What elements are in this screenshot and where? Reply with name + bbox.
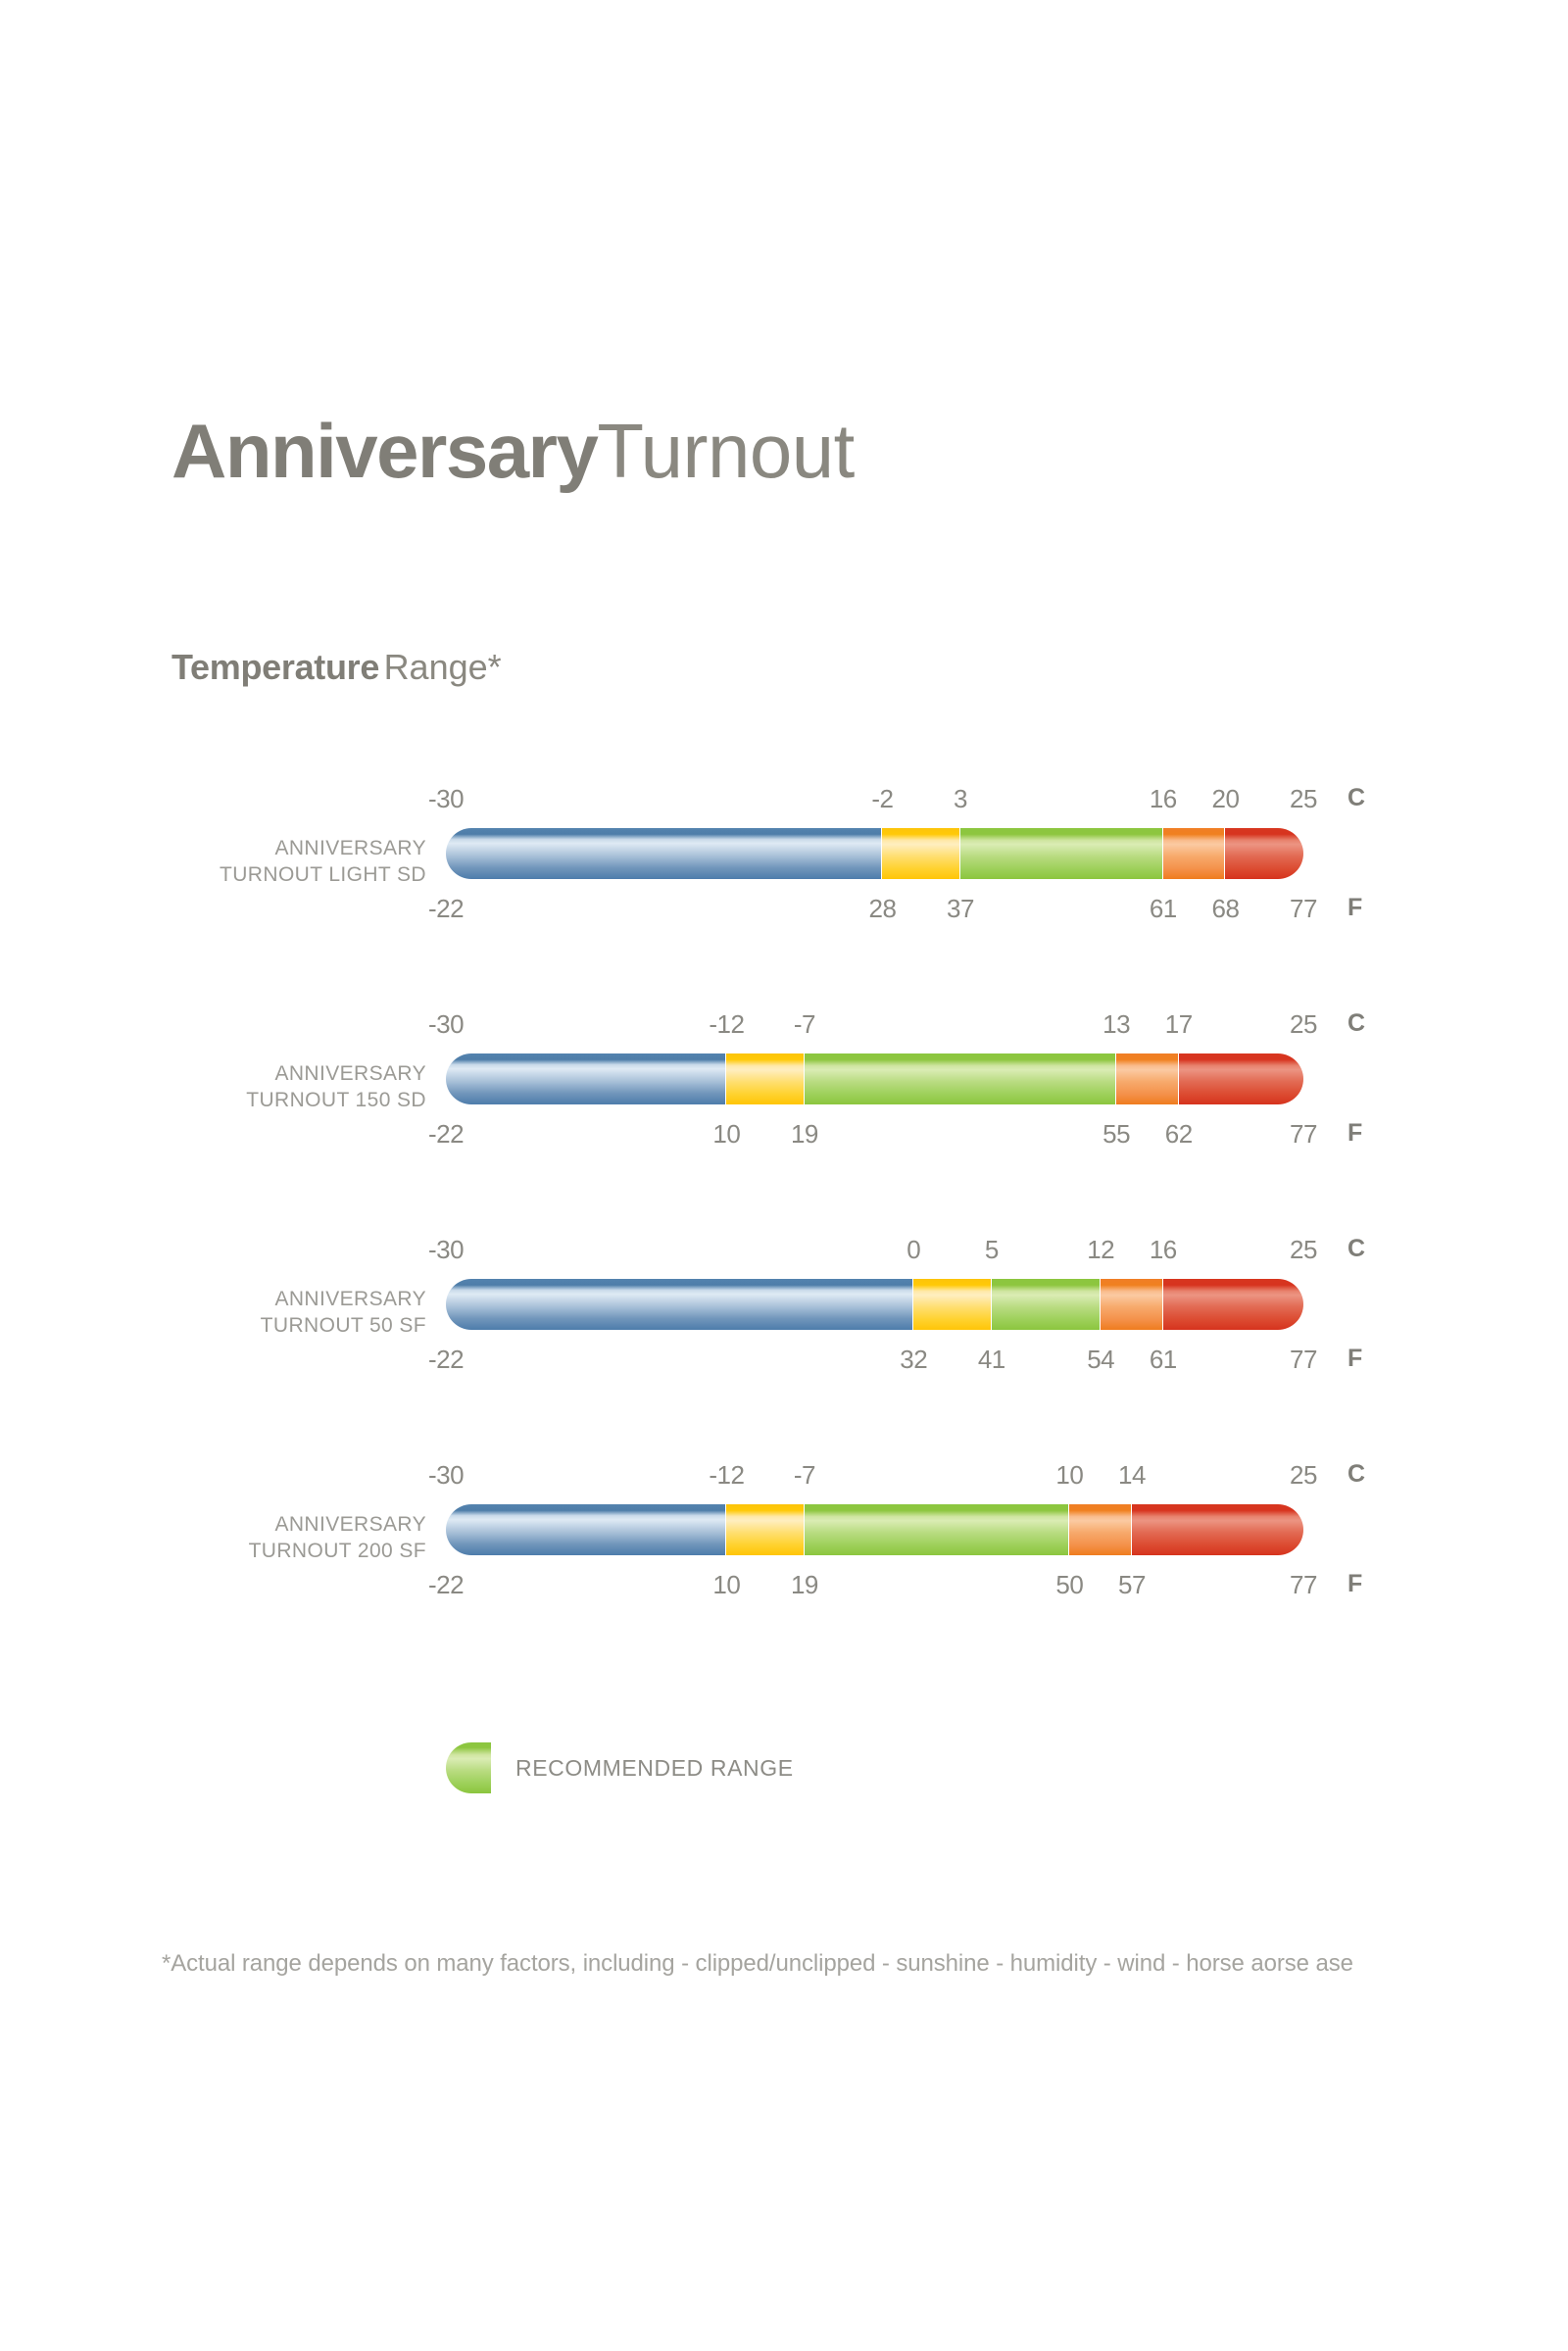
- bar-segment-blue: [446, 1279, 913, 1330]
- unit-fahrenheit: F: [1347, 1570, 1362, 1598]
- fahrenheit-tick-row: -222837616877: [446, 894, 1303, 923]
- celsius-tick: 25: [1290, 1235, 1317, 1265]
- bar-segment-green: [992, 1279, 1101, 1330]
- row-label: ANNIVERSARYTURNOUT LIGHT SD: [103, 835, 426, 888]
- fahrenheit-tick-row: -221019505777: [446, 1570, 1303, 1599]
- fahrenheit-tick: -22: [428, 1119, 464, 1150]
- celsius-tick-row: -30-12-7101425: [446, 1460, 1303, 1490]
- bar-segment-yellow: [726, 1053, 805, 1104]
- celsius-tick-row: -30-12-7131725: [446, 1009, 1303, 1039]
- bar-segment-yellow: [726, 1504, 805, 1555]
- bar-segment-orange: [1101, 1279, 1163, 1330]
- legend: RECOMMENDED RANGE: [446, 1742, 794, 1793]
- chart-row: ANNIVERSARYTURNOUT LIGHT SD-30-23162025-…: [0, 774, 1568, 1000]
- unit-fahrenheit: F: [1347, 894, 1362, 922]
- fahrenheit-tick: 68: [1211, 894, 1239, 924]
- fahrenheit-tick: 61: [1150, 1345, 1177, 1375]
- fahrenheit-tick: -22: [428, 1570, 464, 1600]
- celsius-tick: -30: [428, 1009, 464, 1040]
- celsius-tick: 16: [1150, 784, 1177, 814]
- section-subtitle: Temperature Range*: [171, 647, 502, 688]
- bar-area: -3005121625-223241546177: [446, 1225, 1303, 1450]
- fahrenheit-tick: -22: [428, 1345, 464, 1375]
- row-label-line2: TURNOUT LIGHT SD: [103, 861, 426, 888]
- celsius-tick: 10: [1055, 1460, 1083, 1491]
- bar-segment-yellow: [882, 828, 960, 879]
- fahrenheit-tick: 61: [1150, 894, 1177, 924]
- fahrenheit-tick: -22: [428, 894, 464, 924]
- row-label-line1: ANNIVERSARY: [103, 835, 426, 861]
- recommended-range-swatch-icon: [446, 1742, 491, 1793]
- unit-celsius: C: [1347, 1460, 1365, 1489]
- fahrenheit-tick: 54: [1087, 1345, 1114, 1375]
- celsius-tick: 25: [1290, 784, 1317, 814]
- celsius-tick: -7: [794, 1009, 815, 1040]
- bar-segment-orange: [1069, 1504, 1132, 1555]
- fahrenheit-tick: 77: [1290, 1119, 1317, 1150]
- bar-segment-yellow: [913, 1279, 992, 1330]
- bar-area: -30-12-7131725-221019556277: [446, 1000, 1303, 1225]
- celsius-tick-row: -30-23162025: [446, 784, 1303, 813]
- chart-row: ANNIVERSARYTURNOUT 200 SF-30-12-7101425-…: [0, 1450, 1568, 1676]
- celsius-tick: 25: [1290, 1009, 1317, 1040]
- chart-row: ANNIVERSARYTURNOUT 50 SF-3005121625-2232…: [0, 1225, 1568, 1450]
- bar-segment-blue: [446, 828, 882, 879]
- celsius-tick: -30: [428, 1460, 464, 1491]
- celsius-tick: 25: [1290, 1460, 1317, 1491]
- row-label-line2: TURNOUT 150 SD: [103, 1087, 426, 1113]
- fahrenheit-tick: 77: [1290, 1345, 1317, 1375]
- celsius-tick: -2: [871, 784, 893, 814]
- celsius-tick-row: -3005121625: [446, 1235, 1303, 1264]
- legend-label: RECOMMENDED RANGE: [515, 1755, 794, 1782]
- fahrenheit-tick: 77: [1290, 894, 1317, 924]
- bar-segment-red: [1132, 1504, 1303, 1555]
- subtitle-light-word: Range*: [384, 647, 502, 687]
- unit-celsius: C: [1347, 1235, 1365, 1263]
- celsius-tick: -12: [709, 1460, 744, 1491]
- bar-area: -30-12-7101425-221019505777: [446, 1450, 1303, 1676]
- unit-fahrenheit: F: [1347, 1119, 1362, 1148]
- celsius-tick: 20: [1211, 784, 1239, 814]
- celsius-tick: 16: [1150, 1235, 1177, 1265]
- footnote: *Actual range depends on many factors, i…: [162, 1950, 1353, 1978]
- bar-segment-orange: [1163, 828, 1226, 879]
- bar-segment-red: [1163, 1279, 1303, 1330]
- fahrenheit-tick: 57: [1118, 1570, 1146, 1600]
- bar-segment-red: [1179, 1053, 1303, 1104]
- row-label: ANNIVERSARYTURNOUT 50 SF: [103, 1286, 426, 1339]
- bar-segment-blue: [446, 1504, 726, 1555]
- fahrenheit-tick: 77: [1290, 1570, 1317, 1600]
- unit-celsius: C: [1347, 784, 1365, 812]
- title-bold-word: Anniversary: [171, 408, 597, 494]
- fahrenheit-tick: 41: [978, 1345, 1005, 1375]
- unit-fahrenheit: F: [1347, 1345, 1362, 1373]
- row-label-line1: ANNIVERSARY: [103, 1060, 426, 1087]
- celsius-tick: -12: [709, 1009, 744, 1040]
- temperature-bar: [446, 1279, 1303, 1330]
- fahrenheit-tick: 28: [868, 894, 896, 924]
- fahrenheit-tick: 10: [712, 1119, 740, 1150]
- bar-segment-orange: [1116, 1053, 1179, 1104]
- poster-page: AnniversaryTurnout Temperature Range* AN…: [0, 0, 1568, 2351]
- fahrenheit-tick: 50: [1055, 1570, 1083, 1600]
- row-label-line2: TURNOUT 50 SF: [103, 1312, 426, 1339]
- bar-segment-red: [1225, 828, 1303, 879]
- celsius-tick: 17: [1165, 1009, 1193, 1040]
- title-light-word: Turnout: [597, 408, 854, 494]
- temperature-bar: [446, 828, 1303, 879]
- celsius-tick: 14: [1118, 1460, 1146, 1491]
- celsius-tick: -7: [794, 1460, 815, 1491]
- temperature-bar: [446, 1504, 1303, 1555]
- fahrenheit-tick: 32: [900, 1345, 927, 1375]
- row-label: ANNIVERSARYTURNOUT 200 SF: [103, 1511, 426, 1564]
- celsius-tick: 0: [906, 1235, 920, 1265]
- row-label-line1: ANNIVERSARY: [103, 1511, 426, 1538]
- fahrenheit-tick: 55: [1102, 1119, 1130, 1150]
- celsius-tick: 12: [1087, 1235, 1114, 1265]
- celsius-tick: 5: [985, 1235, 999, 1265]
- fahrenheit-tick: 37: [947, 894, 974, 924]
- fahrenheit-tick-row: -221019556277: [446, 1119, 1303, 1149]
- temperature-bar: [446, 1053, 1303, 1104]
- celsius-tick: 13: [1102, 1009, 1130, 1040]
- unit-celsius: C: [1347, 1009, 1365, 1038]
- row-label: ANNIVERSARYTURNOUT 150 SD: [103, 1060, 426, 1113]
- bar-segment-green: [960, 828, 1163, 879]
- fahrenheit-tick: 19: [791, 1570, 818, 1600]
- fahrenheit-tick: 19: [791, 1119, 818, 1150]
- bar-segment-blue: [446, 1053, 726, 1104]
- bar-segment-green: [805, 1053, 1116, 1104]
- bar-area: -30-23162025-222837616877: [446, 774, 1303, 1000]
- fahrenheit-tick: 10: [712, 1570, 740, 1600]
- celsius-tick: -30: [428, 1235, 464, 1265]
- row-label-line1: ANNIVERSARY: [103, 1286, 426, 1312]
- celsius-tick: 3: [954, 784, 967, 814]
- subtitle-bold-word: Temperature: [171, 647, 379, 687]
- fahrenheit-tick: 62: [1165, 1119, 1193, 1150]
- row-label-line2: TURNOUT 200 SF: [103, 1538, 426, 1564]
- celsius-tick: -30: [428, 784, 464, 814]
- bar-segment-green: [805, 1504, 1069, 1555]
- fahrenheit-tick-row: -223241546177: [446, 1345, 1303, 1374]
- chart-row: ANNIVERSARYTURNOUT 150 SD-30-12-7131725-…: [0, 1000, 1568, 1225]
- page-title: AnniversaryTurnout: [171, 407, 855, 496]
- temperature-range-chart: ANNIVERSARYTURNOUT LIGHT SD-30-23162025-…: [0, 774, 1568, 1676]
